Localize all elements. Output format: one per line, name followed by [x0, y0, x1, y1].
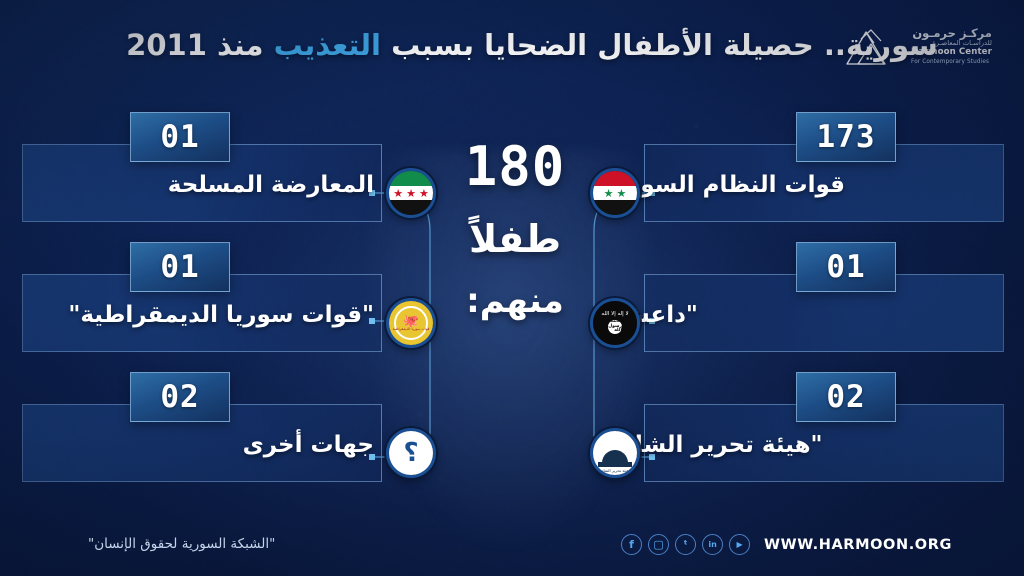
syrian-opposition-flag-icon: ★★★ [386, 168, 436, 218]
twitter-icon[interactable]: ᵗ [675, 534, 696, 555]
total-unit: طفلاً [440, 220, 590, 258]
hts-tag-text: هيئة تحرير الشام [601, 468, 629, 473]
count-value: 02 [160, 382, 199, 413]
sdf-logo-icon: 🐙 قوات سوريا الديمقراطية [386, 298, 436, 348]
count-value: 01 [160, 252, 199, 283]
count-badge: 173 [796, 112, 896, 162]
row-label: "قوات سوريا الديمقراطية" [68, 302, 374, 328]
right-column: 173 قوات النظام السوري ★★ 01 "داعش" لا إ… [582, 112, 1012, 502]
row-label: قوات النظام السوري [606, 172, 845, 198]
count-value: 173 [817, 122, 876, 153]
count-value: 01 [160, 122, 199, 153]
stat-row-syrian-regime[interactable]: 173 قوات النظام السوري ★★ [582, 112, 1012, 242]
isis-flag-top-text: لا إله إلا الله [601, 312, 628, 318]
count-value: 02 [826, 382, 865, 413]
footer: "الشبكة السورية لحقوق الإنسان" f ▢ ᵗ in … [0, 520, 1024, 576]
count-badge: 01 [796, 242, 896, 292]
row-label: المعارضة المسلحة [168, 172, 374, 198]
count-badge: 01 [130, 242, 230, 292]
left-column: 01 المعارضة المسلحة ★★★ 01 "قوات سوريا ا… [14, 112, 444, 502]
isis-flag-seal-text: محمد رسول الله [608, 320, 622, 334]
count-badge: 02 [796, 372, 896, 422]
title-part-1: سورية.. حصيلة الأطفال الضحايا بسبب [381, 28, 938, 62]
linkedin-icon[interactable]: in [702, 534, 723, 555]
sdf-bird-glyph: 🐙 [403, 315, 419, 328]
youtube-icon[interactable]: ▶ [729, 534, 750, 555]
question-glyph: ؟ [403, 440, 418, 466]
source-credit: "الشبكة السورية لحقوق الإنسان" [88, 536, 275, 552]
row-label: جهات أخرى [243, 432, 374, 458]
infographic-canvas: مركـز حرمـون للدراسـات المعاصـرة Harmoon… [0, 0, 1024, 576]
total-count: 180 [440, 140, 590, 194]
stat-row-hts[interactable]: 02 "هيئة تحرير الشام" هيئة تحرير الشام [582, 372, 1012, 502]
social-links[interactable]: f ▢ ᵗ in ▶ WWW.HARMOON.ORG [621, 534, 952, 555]
count-badge: 02 [130, 372, 230, 422]
page-title: سورية.. حصيلة الأطفال الضحايا بسبب التعذ… [0, 26, 1024, 65]
title-part-2: منذ 2011 [126, 28, 273, 62]
syrian-regime-flag-icon: ★★ [590, 168, 640, 218]
stat-row-armed-opposition[interactable]: 01 المعارضة المسلحة ★★★ [14, 112, 444, 242]
instagram-icon[interactable]: ▢ [648, 534, 669, 555]
facebook-icon[interactable]: f [621, 534, 642, 555]
count-value: 01 [826, 252, 865, 283]
total-summary: 180 طفلاً منهم: [440, 140, 590, 318]
hts-logo-icon: هيئة تحرير الشام [590, 428, 640, 478]
stat-row-other[interactable]: 02 جهات أخرى ؟ [14, 372, 444, 502]
title-highlight: التعذيب [274, 28, 381, 62]
header: مركـز حرمـون للدراسـات المعاصـرة Harmoon… [0, 0, 1024, 100]
stat-row-isis[interactable]: 01 "داعش" لا إله إلا الله محمد رسول الله [582, 242, 1012, 372]
sdf-tag-text: قوات سوريا الديمقراطية [393, 328, 430, 332]
count-badge: 01 [130, 112, 230, 162]
website-url[interactable]: WWW.HARMOON.ORG [764, 537, 952, 553]
stat-row-sdf[interactable]: 01 "قوات سوريا الديمقراطية" 🐙 قوات سوريا… [14, 242, 444, 372]
isis-black-flag-icon: لا إله إلا الله محمد رسول الله [590, 298, 640, 348]
total-among-label: منهم: [440, 284, 590, 318]
question-mark-icon: ؟ [386, 428, 436, 478]
